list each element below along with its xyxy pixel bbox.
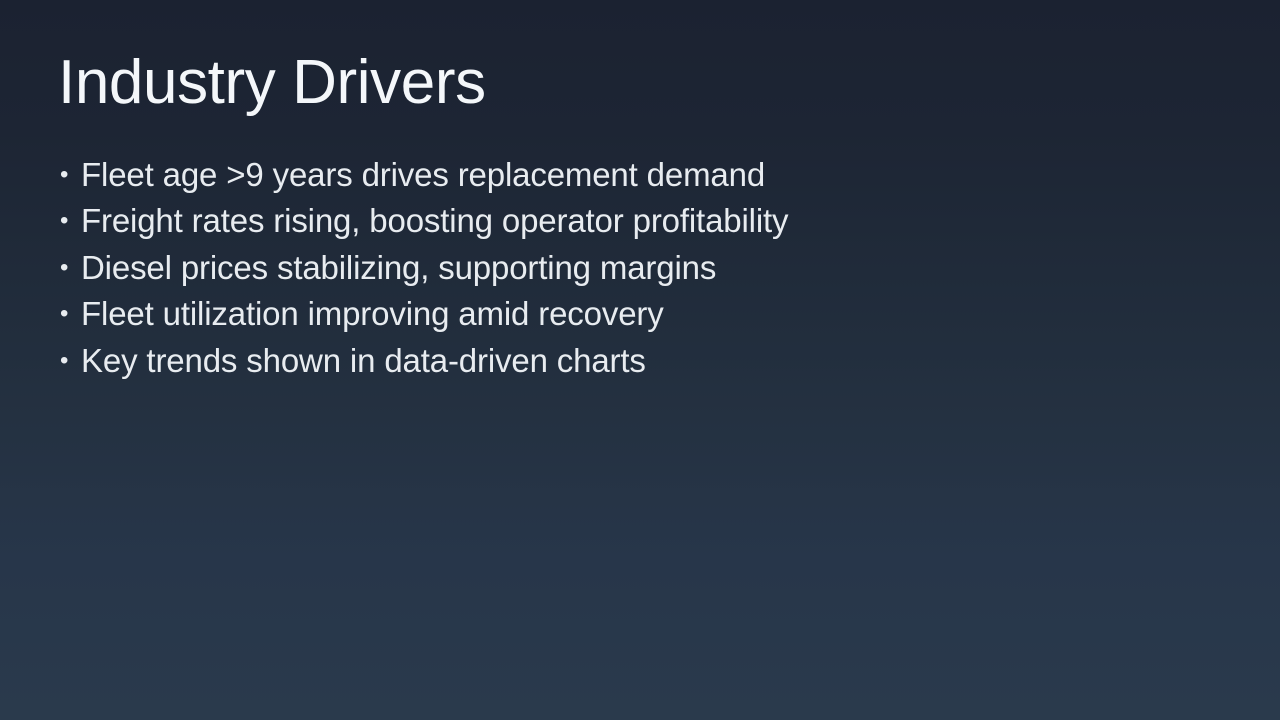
list-item-label: Key trends shown in data-driven charts — [81, 342, 646, 379]
bullet-point-icon: • — [60, 338, 81, 384]
bullet-point-icon: • — [60, 152, 81, 198]
list-item: • Fleet age >9 years drives replacement … — [60, 152, 1180, 198]
list-item-label: Freight rates rising, boosting operator … — [81, 202, 788, 239]
bullet-point-icon: • — [60, 291, 81, 337]
presentation-slide: Industry Drivers • Fleet age >9 years dr… — [0, 0, 1280, 720]
list-item: • Fleet utilization improving amid recov… — [60, 291, 1180, 337]
page-title: Industry Drivers — [58, 48, 486, 117]
list-item: • Diesel prices stabilizing, supporting … — [60, 245, 1180, 291]
bullet-list: • Fleet age >9 years drives replacement … — [60, 152, 1180, 384]
list-item: • Freight rates rising, boosting operato… — [60, 198, 1180, 244]
bullet-point-icon: • — [60, 245, 81, 291]
slide-content-area: Industry Drivers • Fleet age >9 years dr… — [58, 0, 1238, 720]
bullet-point-icon: • — [60, 198, 81, 244]
list-item-label: Fleet utilization improving amid recover… — [81, 295, 664, 332]
list-item-label: Fleet age >9 years drives replacement de… — [81, 156, 765, 193]
list-item: • Key trends shown in data-driven charts — [60, 338, 1180, 384]
list-item-label: Diesel prices stabilizing, supporting ma… — [81, 249, 716, 286]
